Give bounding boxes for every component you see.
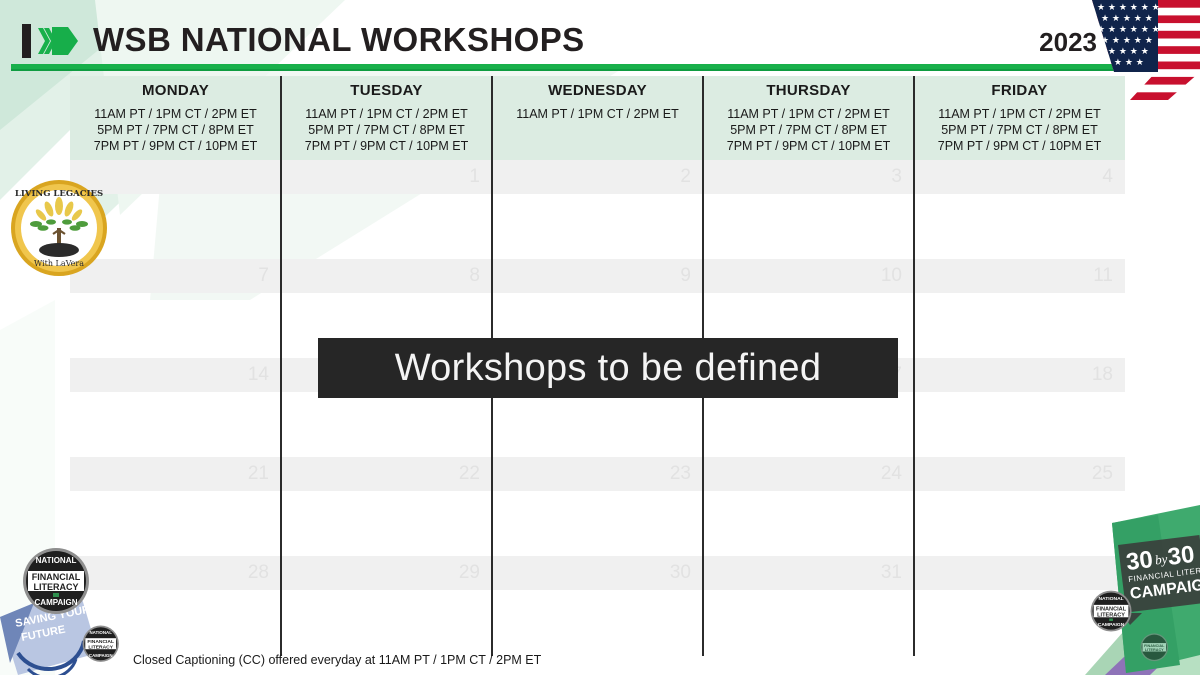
thirty-by-thirty-flyer-icon: 30 by 30 FINANCIAL LITERACY CAMPAIGN NAT… xyxy=(1040,505,1200,675)
day-header-monday: MONDAY xyxy=(70,76,281,104)
calendar-week-row: 1 2 3 4 xyxy=(70,160,1125,259)
chevron-arrow-icon xyxy=(22,24,82,58)
svg-text:CAMPAIGN: CAMPAIGN xyxy=(89,653,113,658)
svg-text:FINANCIAL: FINANCIAL xyxy=(32,572,81,582)
times-monday: 11AM PT / 1PM CT / 2PM ET 5PM PT / 7PM C… xyxy=(70,104,281,160)
day-cell[interactable]: 30 xyxy=(492,556,703,590)
svg-text:FINANCIAL: FINANCIAL xyxy=(1096,606,1127,612)
time-slot: 7PM PT / 9PM CT / 10PM ET xyxy=(305,139,468,154)
time-slot: 11AM PT / 1PM CT / 2PM ET xyxy=(727,107,890,122)
saving-your-future-brochure-icon: SAVING YOUR FUTURE NATIONAL FINANCIAL LI… xyxy=(0,545,150,675)
day-cell[interactable]: 1 xyxy=(281,160,492,194)
time-slot: 11AM PT / 1PM CT / 2PM ET xyxy=(938,107,1101,122)
day-number: 28 xyxy=(248,562,269,584)
svg-text:★ ★ ★ ★ ★ ★: ★ ★ ★ ★ ★ ★ xyxy=(1097,25,1160,35)
svg-text:by: by xyxy=(1154,551,1168,567)
day-cell[interactable]: 18 xyxy=(914,358,1125,392)
day-cell[interactable]: 21 xyxy=(70,457,281,491)
day-number: 18 xyxy=(1092,364,1113,386)
day-cell[interactable]: 8 xyxy=(281,259,492,293)
time-slot: 5PM PT / 7PM CT / 8PM ET xyxy=(730,123,887,138)
day-cell[interactable]: 4 xyxy=(914,160,1125,194)
svg-text:LITERACY: LITERACY xyxy=(88,645,113,651)
living-legacies-seal-icon: LIVING LEGACIES With LaVera xyxy=(9,178,109,278)
day-number: 11 xyxy=(1093,265,1113,287)
svg-text:★ ★ ★ ★: ★ ★ ★ ★ xyxy=(1103,58,1144,68)
day-cell[interactable]: 3 xyxy=(703,160,914,194)
day-number: 14 xyxy=(248,364,269,386)
calendar-times-row: 11AM PT / 1PM CT / 2PM ET 5PM PT / 7PM C… xyxy=(70,104,1125,160)
day-number: 8 xyxy=(469,265,480,287)
day-header-thursday: THURSDAY xyxy=(703,76,914,104)
header-rule-thin xyxy=(11,69,1125,71)
svg-text:★ ★ ★ ★ ★: ★ ★ ★ ★ ★ xyxy=(1097,47,1149,57)
day-number: 4 xyxy=(1102,166,1113,188)
day-cell[interactable]: 9 xyxy=(492,259,703,293)
times-wednesday: 11AM PT / 1PM CT / 2PM ET xyxy=(492,104,703,160)
day-cell[interactable]: 10 xyxy=(703,259,914,293)
day-cell[interactable]: 29 xyxy=(281,556,492,590)
time-slot: 11AM PT / 1PM CT / 2PM ET xyxy=(516,107,679,122)
day-cell[interactable]: 24 xyxy=(703,457,914,491)
slide-canvas: WSB NATIONAL WORKSHOPS 2023 xyxy=(0,0,1200,675)
page-title: WSB NATIONAL WORKSHOPS xyxy=(93,21,585,59)
svg-text:NATIONAL: NATIONAL xyxy=(90,630,113,635)
svg-text:With LaVera: With LaVera xyxy=(34,259,84,268)
day-number: 31 xyxy=(881,562,902,584)
day-cell[interactable]: 14 xyxy=(70,358,281,392)
svg-text:★ ★ ★ ★ ★: ★ ★ ★ ★ ★ xyxy=(1101,14,1153,24)
svg-text:FINANCIAL: FINANCIAL xyxy=(87,639,114,645)
day-cell[interactable]: 25 xyxy=(914,457,1125,491)
column-separator xyxy=(280,76,282,656)
day-number: 3 xyxy=(891,166,902,188)
time-slot: 5PM PT / 7PM CT / 8PM ET xyxy=(97,123,254,138)
day-header-tuesday: TUESDAY xyxy=(281,76,492,104)
day-number: 21 xyxy=(248,463,269,485)
day-number: 2 xyxy=(680,166,691,188)
day-header-wednesday: WEDNESDAY xyxy=(492,76,703,104)
svg-text:LIVING LEGACIES: LIVING LEGACIES xyxy=(15,189,103,199)
day-number: 9 xyxy=(680,265,691,287)
svg-text:★ ★ ★ ★ ★ ★: ★ ★ ★ ★ ★ ★ xyxy=(1097,3,1160,13)
time-slot: 5PM PT / 7PM CT / 8PM ET xyxy=(308,123,465,138)
time-slot: 11AM PT / 1PM CT / 2PM ET xyxy=(305,107,468,122)
day-cell[interactable]: 23 xyxy=(492,457,703,491)
svg-text:CAMPAIGN: CAMPAIGN xyxy=(35,598,78,607)
svg-text:★ ★ ★ ★ ★: ★ ★ ★ ★ ★ xyxy=(1101,36,1153,46)
day-number: 29 xyxy=(459,562,480,584)
closed-captioning-note: Closed Captioning (CC) offered everyday … xyxy=(133,653,541,667)
day-cell[interactable]: 31 xyxy=(703,556,914,590)
svg-text:CAMPAIGN: CAMPAIGN xyxy=(1098,622,1125,628)
time-slot: 7PM PT / 9PM CT / 10PM ET xyxy=(938,139,1101,154)
day-header-friday: FRIDAY xyxy=(914,76,1125,104)
times-tuesday: 11AM PT / 1PM CT / 2PM ET 5PM PT / 7PM C… xyxy=(281,104,492,160)
svg-text:NATIONAL: NATIONAL xyxy=(1098,596,1123,602)
calendar-day-headers: MONDAY TUESDAY WEDNESDAY THURSDAY FRIDAY xyxy=(70,76,1125,104)
day-number: 22 xyxy=(459,463,480,485)
day-cell[interactable]: 11 xyxy=(914,259,1125,293)
calendar-week-row: 28 29 30 31 xyxy=(70,556,1125,655)
day-number: 10 xyxy=(881,265,902,287)
workshops-placeholder-banner: Workshops to be defined xyxy=(318,338,898,398)
column-separator xyxy=(913,76,915,656)
slide-header: WSB NATIONAL WORKSHOPS 2023 xyxy=(0,0,1200,70)
day-number: 1 xyxy=(469,166,480,188)
times-thursday: 11AM PT / 1PM CT / 2PM ET 5PM PT / 7PM C… xyxy=(703,104,914,160)
time-slot: 7PM PT / 9PM CT / 10PM ET xyxy=(727,139,890,154)
day-number: 24 xyxy=(881,463,902,485)
time-slot: 11AM PT / 1PM CT / 2PM ET xyxy=(94,107,257,122)
times-friday: 11AM PT / 1PM CT / 2PM ET 5PM PT / 7PM C… xyxy=(914,104,1125,160)
svg-text:LITERACY: LITERACY xyxy=(1097,613,1125,619)
svg-text:NATIONAL: NATIONAL xyxy=(36,556,77,565)
svg-text:LITERACY: LITERACY xyxy=(34,582,79,592)
time-slot: 5PM PT / 7PM CT / 8PM ET xyxy=(941,123,1098,138)
calendar-grid: 1 2 3 4 7 8 9 10 11 14 xyxy=(70,160,1125,656)
svg-text:LITERACY: LITERACY xyxy=(1145,648,1164,652)
day-number: 25 xyxy=(1092,463,1113,485)
day-number: 23 xyxy=(670,463,691,485)
svg-text:FINANCIAL: FINANCIAL xyxy=(1144,644,1165,648)
day-cell[interactable]: 22 xyxy=(281,457,492,491)
day-number: 7 xyxy=(258,265,269,287)
day-cell[interactable]: 2 xyxy=(492,160,703,194)
time-slot: 7PM PT / 9PM CT / 10PM ET xyxy=(94,139,257,154)
overlay-text: Workshops to be defined xyxy=(395,347,822,390)
calendar-week-row: 21 22 23 24 25 xyxy=(70,457,1125,556)
day-number: 30 xyxy=(670,562,691,584)
